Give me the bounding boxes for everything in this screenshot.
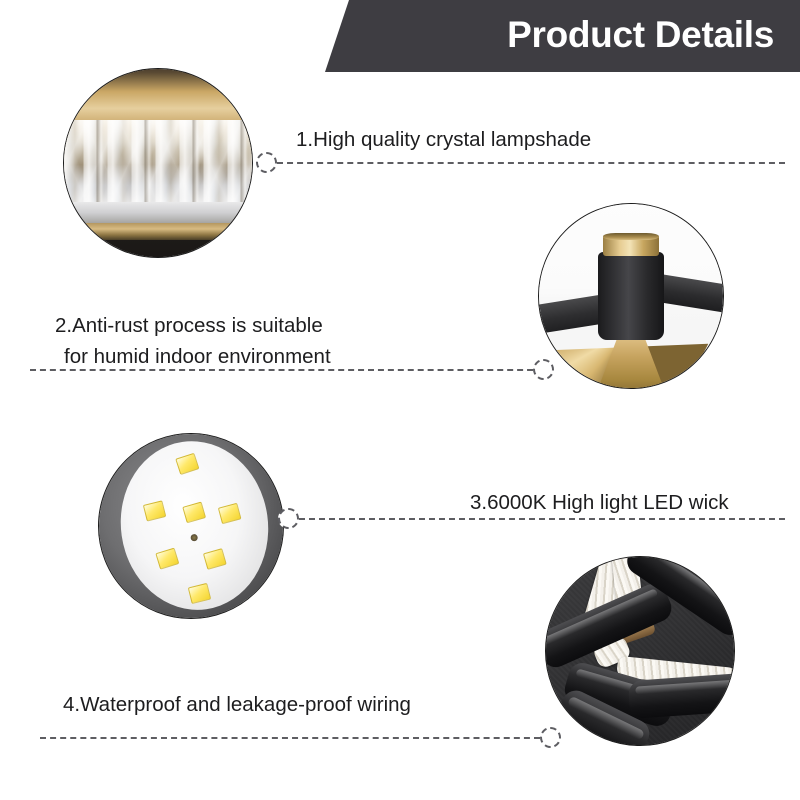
led-chip xyxy=(156,548,180,570)
connector-line-4 xyxy=(40,737,540,739)
led-center-screw xyxy=(190,534,198,542)
connector-node-3 xyxy=(278,508,299,529)
crystal-gold-ring xyxy=(63,223,253,240)
mount-collar-top xyxy=(603,233,658,241)
crystal-photo-inner xyxy=(64,69,252,257)
connector-node-2 xyxy=(533,359,554,380)
page-title: Product Details xyxy=(507,14,774,56)
feature-caption-4: 4.Waterproof and leakage-proof wiring xyxy=(63,689,411,720)
feature-caption-2: 2.Anti-rust process is suitable for humi… xyxy=(55,310,331,372)
led-wick-photo xyxy=(98,433,284,619)
heat-shrink-tube xyxy=(628,673,735,719)
mount-black-cylinder xyxy=(598,252,664,340)
anti-rust-mount-photo xyxy=(538,203,724,389)
header-banner: Product Details xyxy=(325,0,800,72)
product-details-infographic: Product Details xyxy=(0,0,800,800)
led-chip xyxy=(203,548,227,570)
feature-caption-1: 1.High quality crystal lampshade xyxy=(296,124,591,155)
feature-caption-2-line-1: 2.Anti-rust process is suitable xyxy=(55,314,323,337)
led-chip xyxy=(182,502,206,524)
led-chip xyxy=(218,503,242,524)
feature-caption-2-line-2: for humid indoor environment xyxy=(55,341,331,372)
wire-photo-inner xyxy=(546,557,734,745)
crystal-lampshade-photo xyxy=(63,68,253,258)
led-chip xyxy=(143,500,166,521)
connector-node-1 xyxy=(256,152,277,173)
mount-photo-inner xyxy=(539,204,723,388)
led-chip xyxy=(188,583,211,604)
connector-node-4 xyxy=(540,727,561,748)
connector-line-3 xyxy=(299,518,785,520)
waterproof-wiring-photo xyxy=(545,556,735,746)
connector-line-1 xyxy=(277,162,785,164)
crystal-separators xyxy=(63,120,253,206)
led-photo-inner xyxy=(99,434,283,618)
led-chip xyxy=(175,453,199,475)
feature-caption-3: 3.6000K High light LED wick xyxy=(470,487,729,518)
